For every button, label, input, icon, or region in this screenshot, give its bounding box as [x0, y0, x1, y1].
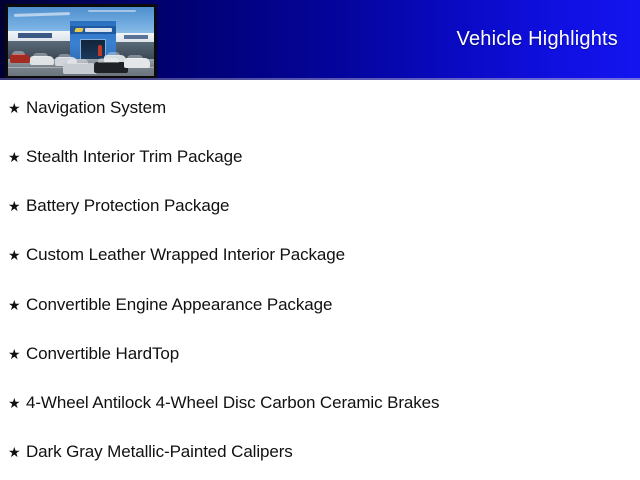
highlight-label: Stealth Interior Trim Package	[26, 148, 242, 167]
list-item: ★ Convertible Engine Appearance Package	[0, 293, 640, 317]
highlight-label: Custom Leather Wrapped Interior Package	[26, 246, 345, 265]
photo-car	[124, 58, 150, 68]
highlight-label: Convertible HardTop	[26, 345, 179, 364]
list-item: ★ Battery Protection Package	[0, 194, 640, 218]
photo-car	[10, 54, 30, 63]
page-title: Vehicle Highlights	[457, 28, 618, 51]
photo-car	[30, 56, 54, 65]
photo-chevrolet-sign	[85, 28, 112, 32]
chevrolet-bowtie-icon	[74, 28, 83, 32]
photo-entrance-figure	[98, 45, 102, 56]
photo-cloud	[88, 10, 136, 12]
vehicle-highlights-page: Vehicle Highlights ★ Navigation System ★…	[0, 0, 640, 480]
highlight-label: Convertible Engine Appearance Package	[26, 296, 332, 315]
highlight-label: Battery Protection Package	[26, 197, 229, 216]
highlight-label: 4-Wheel Antilock 4-Wheel Disc Carbon Cer…	[26, 394, 439, 413]
list-item: ★ Stealth Interior Trim Package	[0, 145, 640, 169]
star-bullet-icon: ★	[8, 347, 26, 361]
star-bullet-icon: ★	[8, 298, 26, 312]
list-item: ★ Custom Leather Wrapped Interior Packag…	[0, 243, 640, 267]
star-bullet-icon: ★	[8, 199, 26, 213]
photo-car	[94, 62, 128, 73]
list-item: ★ Navigation System	[0, 96, 640, 120]
list-item: ★ Dark Gray Metallic-Painted Calipers	[0, 440, 640, 464]
star-bullet-icon: ★	[8, 248, 26, 262]
dealership-photo-image	[8, 7, 154, 76]
list-item: ★ 4-Wheel Antilock 4-Wheel Disc Carbon C…	[0, 391, 640, 415]
photo-dealer-sign	[18, 33, 52, 38]
star-bullet-icon: ★	[8, 396, 26, 410]
highlight-label: Navigation System	[26, 99, 166, 118]
star-bullet-icon: ★	[8, 101, 26, 115]
dealership-photo-frame	[5, 4, 157, 79]
star-bullet-icon: ★	[8, 150, 26, 164]
vehicle-highlights-list: ★ Navigation System ★ Stealth Interior T…	[0, 80, 640, 480]
header-banner: Vehicle Highlights	[0, 0, 640, 80]
photo-car	[63, 63, 97, 74]
photo-right-sign	[124, 35, 148, 39]
list-item: ★ Convertible HardTop	[0, 342, 640, 366]
highlight-label: Dark Gray Metallic-Painted Calipers	[26, 443, 293, 462]
star-bullet-icon: ★	[8, 445, 26, 459]
